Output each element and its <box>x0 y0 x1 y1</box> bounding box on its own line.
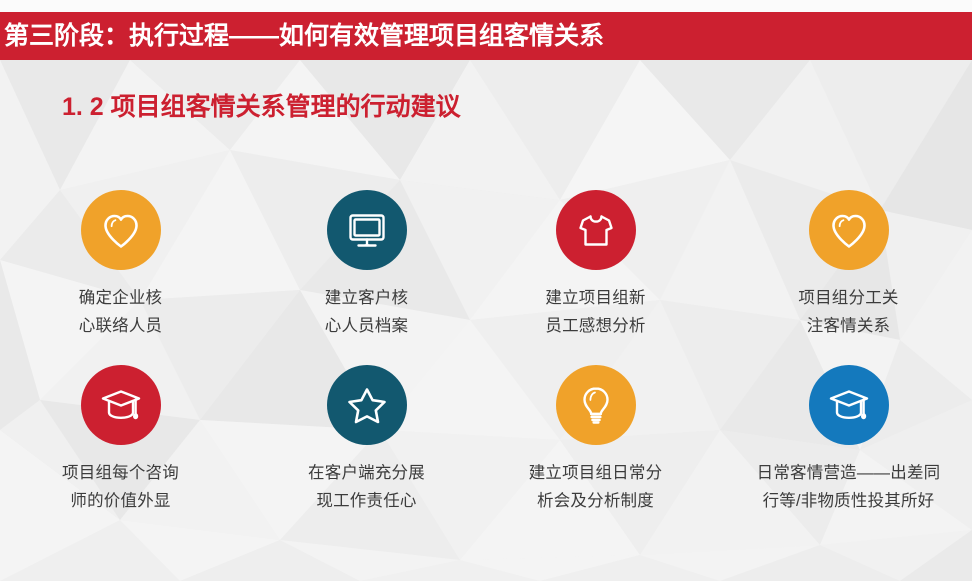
grid-item-8[interactable]: 日常客情营造——出差同 行等/非物质性投其所好 <box>727 365 970 516</box>
grid-item-1[interactable]: 确定企业核 心联络人员 <box>0 190 242 341</box>
icon-badge-4[interactable] <box>809 190 889 270</box>
icon-grid: 确定企业核 心联络人员 建立客户核 心人员档案 <box>0 190 972 516</box>
header-band: 第三阶段：执行过程——如何有效管理项目组客情关系 <box>0 12 972 60</box>
icon-badge-5[interactable] <box>81 365 161 445</box>
star-icon <box>343 381 391 429</box>
grid-item-6[interactable]: 在客户端充分展 现工作责任心 <box>245 365 488 516</box>
icon-grid-row-2: 项目组每个咨询 师的价值外显 在客户端充分展 现工作责任心 <box>0 365 972 516</box>
section-subtitle: 1. 2 项目组客情关系管理的行动建议 <box>62 92 461 122</box>
heart-icon <box>97 206 145 254</box>
icon-badge-6[interactable] <box>327 365 407 445</box>
grid-item-3[interactable]: 建立项目组新 员工感想分析 <box>474 190 717 341</box>
grid-item-4-label: 项目组分工关 注客情关系 <box>798 284 898 341</box>
monitor-icon <box>343 206 391 254</box>
grid-item-5[interactable]: 项目组每个咨询 师的价值外显 <box>0 365 242 516</box>
icon-badge-7[interactable] <box>556 365 636 445</box>
page-title: 第三阶段：执行过程——如何有效管理项目组客情关系 <box>0 24 604 49</box>
icon-badge-1[interactable] <box>81 190 161 270</box>
grid-item-5-label: 项目组每个咨询 师的价值外显 <box>62 459 179 516</box>
icon-badge-2[interactable] <box>327 190 407 270</box>
icon-badge-8[interactable] <box>809 365 889 445</box>
icon-grid-row-1: 确定企业核 心联络人员 建立客户核 心人员档案 <box>0 190 972 341</box>
graduation-cap-icon <box>97 381 145 429</box>
grid-item-4[interactable]: 项目组分工关 注客情关系 <box>727 190 970 341</box>
tshirt-icon <box>572 206 620 254</box>
grid-item-6-label: 在客户端充分展 现工作责任心 <box>308 459 425 516</box>
lightbulb-icon <box>572 381 620 429</box>
graduation-cap-icon <box>825 381 873 429</box>
grid-item-2[interactable]: 建立客户核 心人员档案 <box>245 190 488 341</box>
grid-item-3-label: 建立项目组新 员工感想分析 <box>545 284 645 341</box>
grid-item-7-label: 建立项目组日常分 析会及分析制度 <box>529 459 663 516</box>
heart-icon <box>825 206 873 254</box>
icon-badge-3[interactable] <box>556 190 636 270</box>
slide-canvas: 第三阶段：执行过程——如何有效管理项目组客情关系 1. 2 项目组客情关系管理的… <box>0 0 972 581</box>
grid-item-7[interactable]: 建立项目组日常分 析会及分析制度 <box>474 365 717 516</box>
grid-item-1-label: 确定企业核 心联络人员 <box>79 284 163 341</box>
grid-item-2-label: 建立客户核 心人员档案 <box>325 284 409 341</box>
grid-item-8-label: 日常客情营造——出差同 行等/非物质性投其所好 <box>757 459 941 516</box>
